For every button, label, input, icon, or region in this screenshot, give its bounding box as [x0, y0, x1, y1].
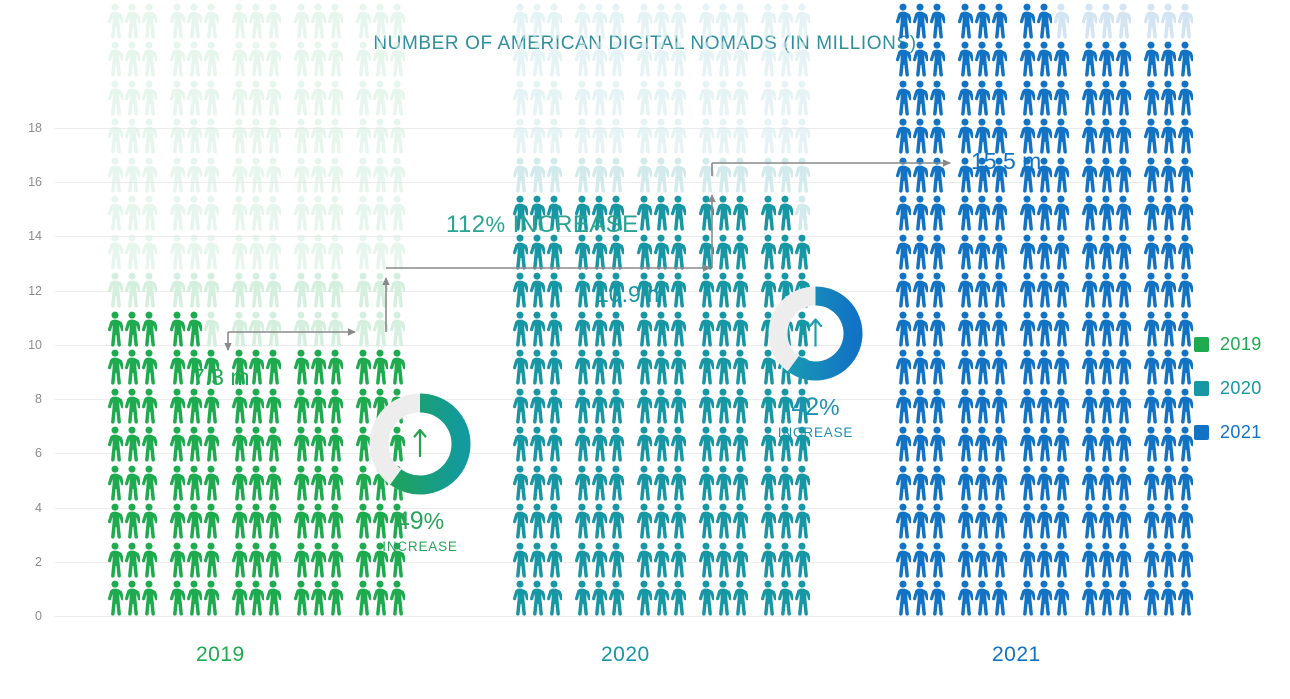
person-icon — [310, 388, 326, 424]
person-icon — [895, 80, 911, 116]
person-icon — [124, 426, 140, 462]
person-icon — [574, 272, 590, 308]
pictogram-row — [512, 385, 810, 424]
person-icon — [203, 3, 219, 39]
pictogram-row — [895, 39, 1193, 78]
pictogram-group — [512, 3, 562, 39]
pictogram-row — [895, 116, 1193, 155]
legend-item-2019[interactable]: 2019 — [1194, 322, 1262, 366]
pictogram-group — [636, 118, 686, 154]
pictogram-group — [1019, 311, 1069, 347]
person-icon — [698, 465, 714, 501]
person-icon — [794, 157, 810, 193]
person-icon — [929, 195, 945, 231]
person-icon — [203, 311, 219, 347]
person-icon — [1115, 542, 1131, 578]
person-icon — [327, 580, 343, 616]
pictogram-group — [1081, 3, 1131, 39]
person-icon — [794, 80, 810, 116]
person-icon — [546, 580, 562, 616]
person-icon — [1098, 234, 1114, 270]
person-icon — [1177, 426, 1193, 462]
person-icon — [265, 503, 281, 539]
pictogram-group — [512, 465, 562, 501]
pictogram-group — [760, 195, 810, 231]
person-icon — [1177, 157, 1193, 193]
person-icon — [248, 234, 264, 270]
person-icon — [974, 195, 990, 231]
person-icon — [591, 311, 607, 347]
pictogram-row — [895, 270, 1193, 309]
person-icon — [1098, 349, 1114, 385]
pictogram-group — [512, 157, 562, 193]
person-icon — [670, 272, 686, 308]
person-icon — [991, 311, 1007, 347]
person-icon — [591, 426, 607, 462]
person-icon — [355, 80, 371, 116]
person-icon — [1160, 118, 1176, 154]
person-icon — [698, 157, 714, 193]
person-icon — [670, 311, 686, 347]
person-icon — [653, 41, 669, 77]
person-icon — [895, 349, 911, 385]
person-icon — [777, 41, 793, 77]
pictogram-group — [698, 234, 748, 270]
pictogram-group — [1081, 80, 1131, 116]
person-icon — [1081, 157, 1097, 193]
person-icon — [265, 157, 281, 193]
pictogram-group — [1143, 542, 1193, 578]
person-icon — [698, 349, 714, 385]
pictogram-group — [107, 542, 157, 578]
person-icon — [310, 118, 326, 154]
person-icon — [895, 157, 911, 193]
pictogram-group — [895, 542, 945, 578]
pictogram-group — [107, 3, 157, 39]
person-icon — [715, 272, 731, 308]
pictogram-group — [293, 465, 343, 501]
person-icon — [636, 311, 652, 347]
person-icon — [1177, 465, 1193, 501]
pictogram-row — [107, 424, 405, 463]
pictogram-group — [895, 41, 945, 77]
person-icon — [231, 311, 247, 347]
person-icon — [732, 503, 748, 539]
person-icon — [957, 3, 973, 39]
pictogram-group — [957, 580, 1007, 616]
person-icon — [529, 272, 545, 308]
pictogram-group — [636, 542, 686, 578]
pictogram-row — [512, 539, 810, 578]
pictogram-group — [1143, 41, 1193, 77]
person-icon — [327, 157, 343, 193]
pictogram-group — [1143, 311, 1193, 347]
person-icon — [974, 272, 990, 308]
person-icon — [698, 426, 714, 462]
pictogram-group — [169, 542, 219, 578]
person-icon — [124, 272, 140, 308]
person-icon — [670, 3, 686, 39]
person-icon — [107, 388, 123, 424]
person-icon — [186, 234, 202, 270]
person-icon — [512, 3, 528, 39]
pictogram-group — [574, 80, 624, 116]
person-icon — [327, 80, 343, 116]
person-icon — [265, 3, 281, 39]
pictogram-group — [355, 195, 405, 231]
person-icon — [293, 542, 309, 578]
person-icon — [1019, 80, 1035, 116]
person-icon — [1081, 272, 1097, 308]
person-icon — [929, 3, 945, 39]
pictogram-group — [698, 118, 748, 154]
pictogram-group — [293, 118, 343, 154]
legend-swatch-icon — [1194, 337, 1209, 352]
person-icon — [169, 465, 185, 501]
person-icon — [1177, 195, 1193, 231]
person-icon — [389, 118, 405, 154]
person-icon — [760, 580, 776, 616]
pictogram-group — [698, 80, 748, 116]
pictogram-row — [107, 347, 405, 386]
person-icon — [512, 41, 528, 77]
person-icon — [310, 580, 326, 616]
person-icon — [957, 542, 973, 578]
pictogram-group — [169, 272, 219, 308]
person-icon — [794, 118, 810, 154]
person-icon — [186, 542, 202, 578]
pictogram-group — [355, 157, 405, 193]
pictogram-group — [169, 388, 219, 424]
pictogram-group — [107, 465, 157, 501]
person-icon — [1160, 195, 1176, 231]
person-icon — [1019, 311, 1035, 347]
person-icon — [372, 157, 388, 193]
pictogram-group — [355, 80, 405, 116]
person-icon — [546, 41, 562, 77]
person-icon — [293, 41, 309, 77]
person-icon — [777, 465, 793, 501]
person-icon — [355, 3, 371, 39]
person-icon — [1177, 118, 1193, 154]
person-icon — [107, 349, 123, 385]
person-icon — [1115, 41, 1131, 77]
person-icon — [186, 388, 202, 424]
person-icon — [929, 311, 945, 347]
person-icon — [715, 3, 731, 39]
person-icon — [310, 157, 326, 193]
pictogram-group — [512, 503, 562, 539]
person-icon — [1053, 349, 1069, 385]
person-icon — [1098, 426, 1114, 462]
pictogram-group — [957, 272, 1007, 308]
pictogram-group — [1081, 311, 1131, 347]
person-icon — [715, 426, 731, 462]
y-tick-label: 16 — [0, 175, 42, 189]
person-icon — [1019, 426, 1035, 462]
pictogram-group — [512, 311, 562, 347]
person-icon — [957, 349, 973, 385]
person-icon — [1036, 41, 1052, 77]
pictogram-group — [698, 503, 748, 539]
person-icon — [141, 41, 157, 77]
pictogram-row — [512, 578, 810, 617]
person-icon — [231, 388, 247, 424]
person-icon — [248, 426, 264, 462]
pictogram-group — [760, 580, 810, 616]
person-icon — [389, 580, 405, 616]
person-icon — [327, 311, 343, 347]
person-icon — [1177, 234, 1193, 270]
person-icon — [912, 503, 928, 539]
person-icon — [1160, 157, 1176, 193]
person-icon — [310, 503, 326, 539]
person-icon — [1177, 503, 1193, 539]
person-icon — [1098, 311, 1114, 347]
person-icon — [1143, 388, 1159, 424]
person-icon — [698, 311, 714, 347]
person-icon — [1081, 311, 1097, 347]
pictogram-row — [107, 39, 405, 78]
person-icon — [1036, 580, 1052, 616]
x-axis-label-2021: 2021 — [992, 643, 1041, 667]
person-icon — [124, 580, 140, 616]
person-icon — [1081, 426, 1097, 462]
pictogram-group — [760, 118, 810, 154]
pictogram-group — [957, 388, 1007, 424]
pictogram-row — [512, 116, 810, 155]
person-icon — [310, 41, 326, 77]
person-icon — [1143, 195, 1159, 231]
person-icon — [1019, 349, 1035, 385]
person-icon — [141, 311, 157, 347]
person-icon — [698, 3, 714, 39]
person-icon — [1053, 542, 1069, 578]
pictogram-group — [1081, 465, 1131, 501]
person-icon — [546, 503, 562, 539]
pictogram-row — [895, 0, 1193, 39]
person-icon — [957, 426, 973, 462]
person-icon — [186, 195, 202, 231]
person-icon — [574, 118, 590, 154]
pictogram-group — [1019, 3, 1069, 39]
pictogram-group — [293, 195, 343, 231]
person-icon — [107, 311, 123, 347]
pictogram-group — [1143, 157, 1193, 193]
person-icon — [1081, 349, 1097, 385]
person-icon — [1036, 3, 1052, 39]
person-icon — [1036, 195, 1052, 231]
person-icon — [355, 234, 371, 270]
person-icon — [546, 542, 562, 578]
person-icon — [512, 311, 528, 347]
pictogram-group — [698, 349, 748, 385]
person-icon — [1081, 542, 1097, 578]
person-icon — [732, 234, 748, 270]
person-icon — [107, 503, 123, 539]
person-icon — [991, 465, 1007, 501]
person-icon — [1081, 388, 1097, 424]
pictogram-group — [957, 80, 1007, 116]
person-icon — [355, 195, 371, 231]
person-icon — [231, 542, 247, 578]
pictogram-group — [1143, 580, 1193, 616]
legend-label: 2019 — [1220, 334, 1262, 355]
person-icon — [1053, 118, 1069, 154]
legend-swatch-icon — [1194, 425, 1209, 440]
person-icon — [991, 234, 1007, 270]
pictogram-group — [1019, 388, 1069, 424]
y-tick-label: 2 — [0, 555, 42, 569]
person-icon — [608, 426, 624, 462]
person-icon — [1160, 234, 1176, 270]
pictogram-group — [169, 41, 219, 77]
person-icon — [169, 118, 185, 154]
person-icon — [794, 3, 810, 39]
person-icon — [1143, 465, 1159, 501]
person-icon — [124, 234, 140, 270]
y-tick-label: 12 — [0, 284, 42, 298]
person-icon — [1081, 234, 1097, 270]
person-icon — [1160, 388, 1176, 424]
pictogram-row — [895, 77, 1193, 116]
person-icon — [141, 195, 157, 231]
person-icon — [929, 388, 945, 424]
person-icon — [957, 272, 973, 308]
pictogram-group — [107, 41, 157, 77]
person-icon — [653, 311, 669, 347]
person-icon — [929, 503, 945, 539]
pictogram-group — [1019, 349, 1069, 385]
pictogram-row — [895, 385, 1193, 424]
person-icon — [574, 311, 590, 347]
pictogram-group — [293, 3, 343, 39]
person-icon — [355, 118, 371, 154]
pictogram-group — [895, 234, 945, 270]
person-icon — [169, 157, 185, 193]
person-icon — [1115, 195, 1131, 231]
legend-item-2021[interactable]: 2021 — [1194, 410, 1262, 454]
person-icon — [591, 503, 607, 539]
person-icon — [546, 272, 562, 308]
person-icon — [372, 311, 388, 347]
person-icon — [107, 41, 123, 77]
pictogram-group — [698, 542, 748, 578]
pictogram-group — [574, 465, 624, 501]
person-icon — [248, 195, 264, 231]
person-icon — [546, 388, 562, 424]
pictogram-group — [1081, 503, 1131, 539]
person-icon — [760, 503, 776, 539]
person-icon — [957, 195, 973, 231]
person-icon — [546, 311, 562, 347]
person-icon — [1143, 157, 1159, 193]
person-icon — [636, 580, 652, 616]
person-icon — [389, 234, 405, 270]
increase-112-number: 112 — [446, 211, 485, 238]
person-icon — [957, 80, 973, 116]
person-icon — [1177, 580, 1193, 616]
person-icon — [698, 234, 714, 270]
pictogram-group — [574, 426, 624, 462]
person-icon — [991, 3, 1007, 39]
person-icon — [186, 80, 202, 116]
person-icon — [1098, 195, 1114, 231]
person-icon — [912, 234, 928, 270]
person-icon — [1098, 118, 1114, 154]
person-icon — [265, 580, 281, 616]
person-icon — [732, 580, 748, 616]
pictogram-row — [107, 231, 405, 270]
person-icon — [608, 542, 624, 578]
person-icon — [715, 465, 731, 501]
person-icon — [293, 503, 309, 539]
person-icon — [186, 157, 202, 193]
person-icon — [653, 388, 669, 424]
person-icon — [957, 503, 973, 539]
person-icon — [372, 580, 388, 616]
y-tick-label: 4 — [0, 501, 42, 515]
pictogram-group — [512, 349, 562, 385]
person-icon — [1053, 580, 1069, 616]
person-icon — [231, 426, 247, 462]
pictogram-column-2019 — [107, 0, 405, 616]
person-icon — [265, 80, 281, 116]
person-icon — [124, 349, 140, 385]
person-icon — [1081, 580, 1097, 616]
person-icon — [1115, 465, 1131, 501]
person-icon — [591, 349, 607, 385]
person-icon — [715, 503, 731, 539]
pictogram-group — [1081, 272, 1131, 308]
person-icon — [231, 503, 247, 539]
person-icon — [1177, 311, 1193, 347]
person-icon — [107, 272, 123, 308]
person-icon — [574, 580, 590, 616]
person-icon — [760, 542, 776, 578]
person-icon — [653, 3, 669, 39]
legend-item-2020[interactable]: 2020 — [1194, 366, 1262, 410]
person-icon — [653, 118, 669, 154]
pictogram-group — [169, 311, 219, 347]
donut-percent: 42% — [767, 393, 864, 422]
person-icon — [141, 503, 157, 539]
person-icon — [670, 503, 686, 539]
person-icon — [529, 80, 545, 116]
person-icon — [1019, 195, 1035, 231]
pictogram-group — [760, 542, 810, 578]
person-icon — [777, 234, 793, 270]
person-icon — [327, 41, 343, 77]
pictogram-row — [895, 154, 1193, 193]
person-icon — [231, 157, 247, 193]
person-icon — [794, 542, 810, 578]
person-icon — [777, 580, 793, 616]
pictogram-group — [512, 272, 562, 308]
person-icon — [389, 272, 405, 308]
person-icon — [512, 80, 528, 116]
pictogram-group — [231, 41, 281, 77]
person-icon — [732, 465, 748, 501]
pictogram-group — [355, 311, 405, 347]
pictogram-group — [895, 349, 945, 385]
person-icon — [732, 542, 748, 578]
person-icon — [310, 311, 326, 347]
person-icon — [355, 41, 371, 77]
person-icon — [1177, 41, 1193, 77]
pictogram-group — [1081, 195, 1131, 231]
pictogram-group — [957, 465, 1007, 501]
